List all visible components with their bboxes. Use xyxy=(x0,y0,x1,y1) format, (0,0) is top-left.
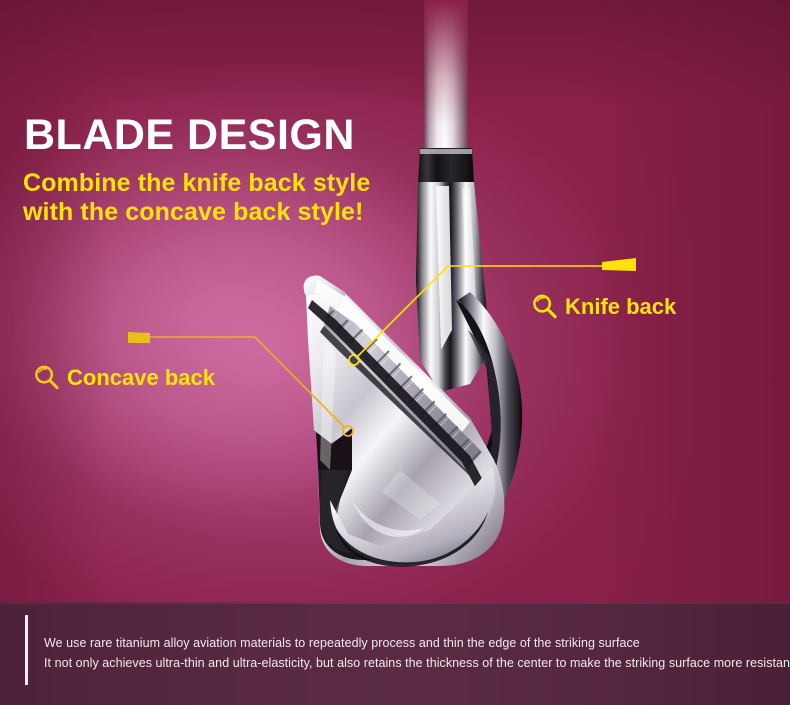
callout-concave-back-label: Concave back xyxy=(67,365,215,391)
callout-knife-back-label: Knife back xyxy=(565,294,676,320)
footer-panel: We use rare titanium alloy aviation mate… xyxy=(0,602,790,705)
magnifier-icon xyxy=(531,293,558,320)
footer-divider xyxy=(0,602,790,604)
footer-line-2: It not only achieves ultra-thin and ultr… xyxy=(44,653,790,673)
callout-concave-back: Concave back xyxy=(33,364,215,391)
subtitle-line-1: Combine the knife back style xyxy=(23,169,370,198)
promo-banner: BLADE DESIGN Combine the knife back styl… xyxy=(0,0,790,705)
footer-description: We use rare titanium alloy aviation mate… xyxy=(44,633,790,673)
magnifier-icon xyxy=(33,364,60,391)
callout-knife-back: Knife back xyxy=(531,293,676,320)
subtitle-line-2: with the concave back style! xyxy=(23,198,370,227)
subtitle: Combine the knife back style with the co… xyxy=(23,169,370,227)
footer-line-1: We use rare titanium alloy aviation mate… xyxy=(44,633,790,653)
page-title: BLADE DESIGN xyxy=(24,112,355,158)
footer-accent-bar xyxy=(25,615,28,685)
